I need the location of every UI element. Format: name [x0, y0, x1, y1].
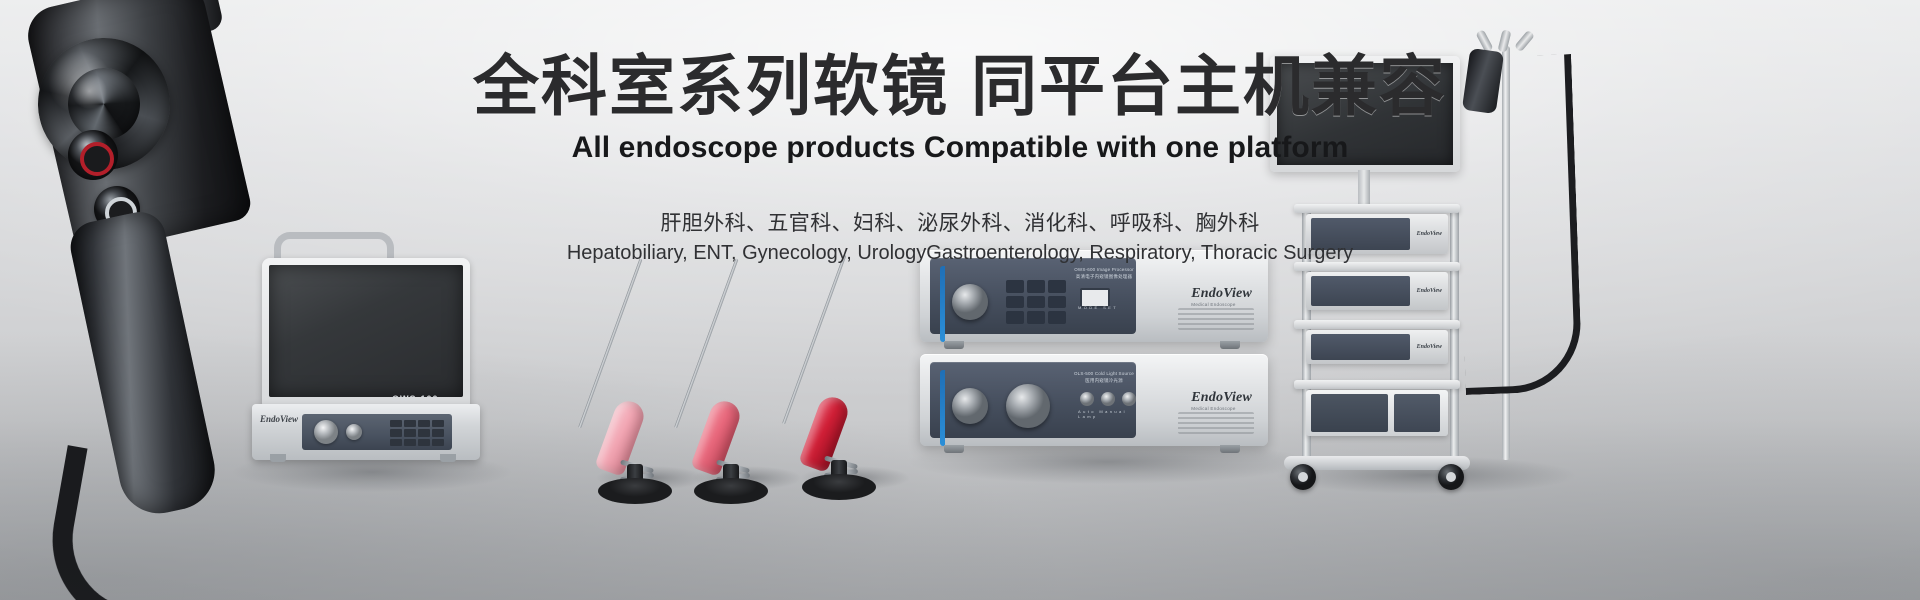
light-source-foot-left — [944, 445, 964, 453]
processor-brand-name: EndoView — [1191, 286, 1252, 301]
processor-foot-left — [944, 341, 964, 349]
cold-light-source-unit: OLS-500 Cold Light Source 医用内窥镜冷光源 Auto … — [920, 354, 1268, 446]
instrument-2-stand-base — [694, 478, 768, 504]
processor-brand-sub: Medical Endoscope — [1191, 302, 1252, 307]
light-source-panel-label-cn: 医用内窥镜冷光源 — [1085, 378, 1123, 383]
light-source-brand-sub: Medical Endoscope — [1191, 406, 1252, 411]
light-source-brightness-knob — [1006, 384, 1050, 428]
processor-button-labels: MODE SET — [1078, 305, 1118, 310]
processor-brand-block: EndoView Medical Endoscope — [1191, 284, 1252, 307]
trolley-unit-2-brand: EndoView — [1417, 288, 1442, 294]
processor-vent-grille — [1178, 308, 1254, 330]
light-source-brand-name: EndoView — [1191, 390, 1252, 405]
trolley-unit-2: EndoView — [1306, 272, 1448, 310]
headline-part-2: 同平台主机兼容 — [971, 49, 1447, 123]
processor-panel-label: OWS-600 Image Processor 高清电子内窥镜图像处理器 — [1062, 267, 1146, 281]
monitor-model-label: OWS-100 — [392, 394, 439, 404]
headline: 全科室系列软镜同平台主机兼容 — [0, 52, 1920, 121]
light-source-front-panel: OLS-500 Cold Light Source 医用内窥镜冷光源 Auto … — [930, 362, 1136, 438]
trolley-unit-2-panel — [1311, 276, 1410, 306]
specialties-cn: 肝胆外科、五官科、妇科、泌尿外科、消化科、呼吸科、胸外科 — [0, 207, 1920, 237]
light-source-brand-block: EndoView Medical Endoscope — [1191, 388, 1252, 411]
trolley-unit-3-panel — [1311, 334, 1410, 360]
subheadline-en: All endoscope products Compatible with o… — [0, 131, 1920, 165]
monitor-secondary-dial — [346, 424, 362, 440]
instrument-3-stand-base — [802, 474, 876, 500]
processor-front-panel: OWS-600 Image Processor 高清电子内窥镜图像处理器 MOD… — [930, 258, 1136, 334]
trolley-accessory-panel-b — [1394, 394, 1440, 432]
instrument-1-stand-base — [598, 478, 672, 504]
monitor-keypad — [390, 420, 444, 446]
specialties-en: Hepatobiliary, ENT, Gynecology, UrologyG… — [0, 242, 1920, 265]
scope-insertion-tube — [38, 445, 205, 600]
trolley-unit-3-brand: EndoView — [1417, 344, 1442, 350]
processor-button-pad — [1006, 280, 1066, 324]
trolley-shelf-3 — [1294, 320, 1460, 329]
light-source-panel-label-en: OLS-500 Cold Light Source — [1074, 371, 1134, 376]
trolley-unit-3: EndoView — [1306, 330, 1448, 364]
trolley-caster-left — [1290, 464, 1316, 490]
product-banner: OWS-100 EndoView — [0, 0, 1920, 600]
light-source-vent-grille — [1178, 412, 1254, 434]
processor-accent-stripe — [940, 266, 945, 342]
processor-panel-label-en: OWS-600 Image Processor — [1074, 267, 1134, 272]
laparoscopic-instrument-3 — [774, 244, 924, 504]
headline-part-1: 全科室系列软镜 — [473, 49, 949, 123]
banner-copy: 全科室系列软镜同平台主机兼容 All endoscope products Co… — [0, 52, 1920, 265]
processor-stack: OWS-600 Image Processor 高清电子内窥镜图像处理器 MOD… — [920, 250, 1280, 455]
light-source-button-labels: Auto Manual Lamp — [1078, 409, 1136, 419]
light-source-output-port — [952, 388, 988, 424]
processor-foot-right — [1220, 341, 1240, 349]
light-source-panel-label: OLS-500 Cold Light Source 医用内窥镜冷光源 — [1062, 371, 1146, 385]
light-source-buttons — [1080, 392, 1136, 406]
processor-panel-label-cn: 高清电子内窥镜图像处理器 — [1076, 274, 1132, 279]
trolley-accessory-tray — [1306, 390, 1448, 436]
processor-main-knob — [952, 284, 988, 320]
monitor-foot-right — [440, 454, 456, 462]
light-source-foot-right — [1220, 445, 1240, 453]
trolley-accessory-panel-a — [1311, 394, 1388, 432]
trolley-caster-right — [1438, 464, 1464, 490]
trolley-shelf-4 — [1294, 380, 1460, 389]
light-source-accent-stripe — [940, 370, 945, 446]
